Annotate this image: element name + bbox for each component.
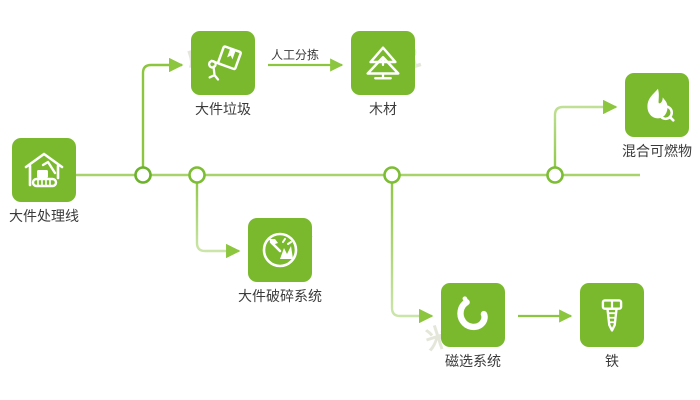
node-combustibles-tile[interactable]: [625, 73, 689, 137]
junction-4: [548, 168, 563, 183]
edge-trunk-to-bulky-waste: [143, 65, 182, 175]
pine-tree-icon: [362, 42, 404, 84]
node-line-main-label: 大件处理线: [9, 209, 79, 226]
node-iron-tile[interactable]: [580, 283, 644, 347]
node-crusher-tile[interactable]: [248, 218, 312, 282]
magnet-icon: [453, 295, 493, 335]
house-excavator-icon: [22, 148, 66, 192]
flame-search-icon: [636, 84, 678, 126]
edge-trunk-to-magnetic: [392, 175, 432, 316]
node-bulky-waste[interactable]: 大件垃圾: [191, 31, 255, 119]
node-bulky-waste-tile[interactable]: [191, 31, 255, 95]
node-line-main[interactable]: 大件处理线: [12, 138, 76, 226]
dump-tipper-icon: [202, 42, 244, 84]
node-combustibles[interactable]: 混合可燃物: [625, 73, 689, 161]
node-wood-tile[interactable]: [351, 31, 415, 95]
hammer-crush-icon: [258, 228, 302, 272]
node-wood[interactable]: 木材: [351, 31, 415, 119]
node-crusher[interactable]: 大件破碎系统: [248, 218, 312, 306]
node-magnetic[interactable]: 磁选系统: [441, 283, 505, 371]
junction-1: [136, 168, 151, 183]
diagram-canvas: 盛 湿 盛 木 米 升盛 人工分拣 大件处理线: [0, 0, 700, 400]
screw-bolt-icon: [592, 295, 632, 335]
edge-trunk-to-combustibles: [555, 107, 616, 175]
node-combustibles-label: 混合可燃物: [622, 144, 692, 161]
edge-label-manual-sorting: 人工分拣: [271, 48, 319, 62]
node-wood-label: 木材: [369, 102, 397, 119]
node-magnetic-label: 磁选系统: [445, 354, 501, 371]
node-bulky-waste-label: 大件垃圾: [195, 102, 251, 119]
node-magnetic-tile[interactable]: [441, 283, 505, 347]
edge-trunk-to-crusher: [197, 175, 239, 251]
node-iron[interactable]: 铁: [580, 283, 644, 371]
node-iron-label: 铁: [605, 354, 619, 371]
node-crusher-label: 大件破碎系统: [238, 289, 322, 306]
node-line-main-tile[interactable]: [12, 138, 76, 202]
junction-3: [385, 168, 400, 183]
junction-2: [190, 168, 205, 183]
